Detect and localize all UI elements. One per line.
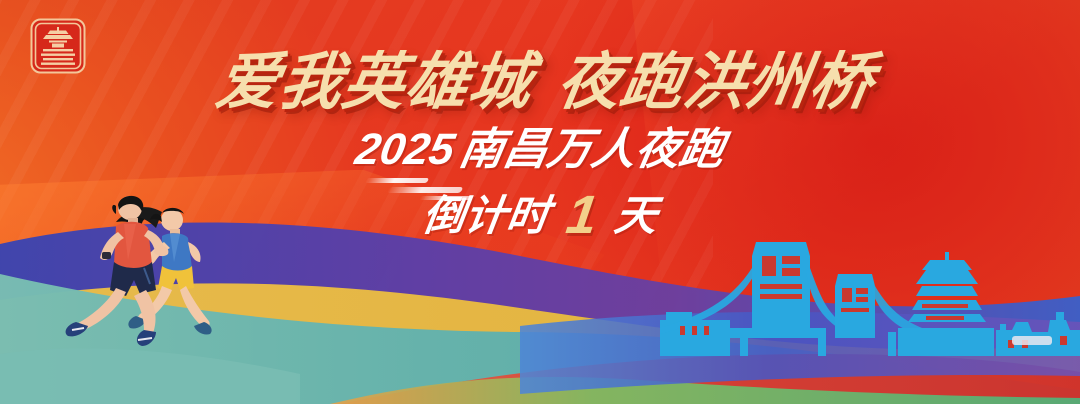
event-banner: 爱我英雄城夜跑洪州桥 2025南昌万人夜跑 倒计时1天	[0, 0, 1080, 404]
countdown-label: 倒计时	[420, 192, 553, 239]
countdown-number: 1	[563, 188, 601, 242]
subline-text: 南昌万人夜跑	[456, 125, 729, 174]
nanchang-skyline	[660, 216, 1080, 356]
subline-year: 2025	[352, 128, 464, 172]
headline-part1: 爱我英雄城	[212, 48, 538, 117]
subline-wrapper: 2025南昌万人夜跑	[0, 128, 1080, 172]
subline: 2025南昌万人夜跑	[352, 128, 728, 172]
two-runners	[58, 172, 268, 372]
headline-part2: 夜跑洪州桥	[553, 48, 879, 117]
headline: 爱我英雄城夜跑洪州桥	[212, 52, 878, 114]
nanchang-city-emblem[interactable]	[30, 18, 86, 74]
countdown: 倒计时1天	[419, 188, 661, 242]
countdown-unit: 天	[612, 192, 661, 239]
